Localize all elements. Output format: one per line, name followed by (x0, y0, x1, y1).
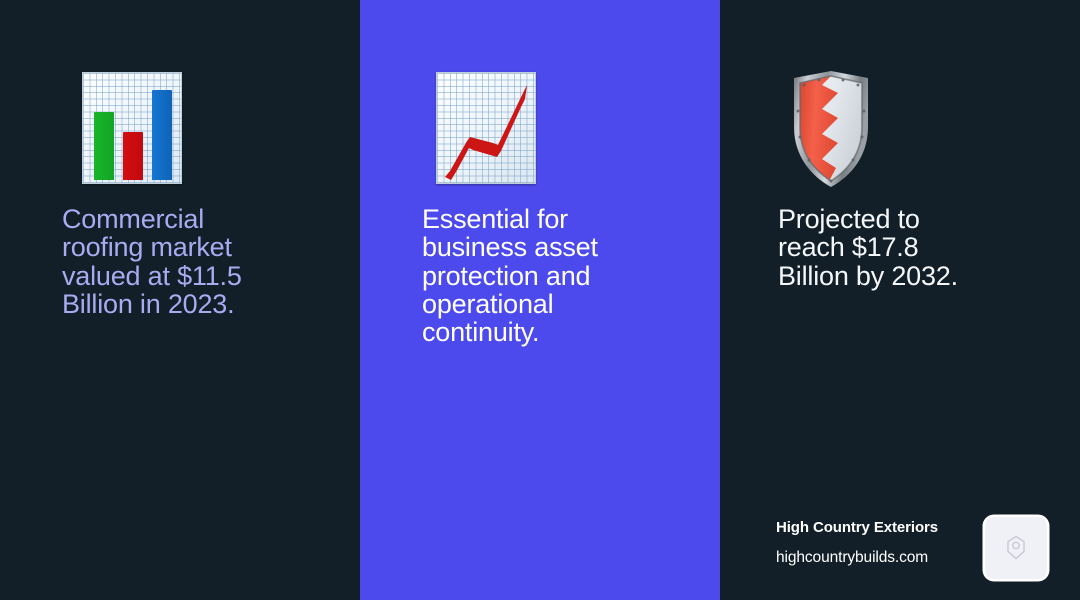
bar-green (94, 112, 114, 180)
panel-projection: Projected to reach $17.8 Billion by 2032… (720, 0, 1080, 600)
panel-content: Essential for business asset protection … (422, 62, 662, 347)
bar-chart-emoji-wrap (62, 62, 164, 177)
logo-watermark-icon (1006, 536, 1026, 560)
chart-increasing-emoji-wrap (422, 62, 524, 177)
bar-chart-icon (82, 72, 182, 184)
panel-market-value: Commercial roofing market valued at $11.… (0, 0, 360, 600)
company-website[interactable]: highcountrybuilds.com (776, 549, 928, 567)
panel-content: Projected to reach $17.8 Billion by 2032… (778, 62, 1018, 290)
chart-increasing-icon (436, 72, 536, 184)
company-name: High Country Exteriors (776, 519, 938, 536)
panel-1-text: Commercial roofing market valued at $11.… (62, 205, 302, 318)
panel-2-text: Essential for business asset protection … (422, 205, 662, 347)
panel-3-text: Projected to reach $17.8 Billion by 2032… (778, 205, 1018, 290)
branding-block: High Country Exteriors highcountrybuilds… (776, 517, 1046, 579)
bar-blue (152, 90, 172, 180)
company-logo-tile (985, 517, 1047, 579)
panel-content: Commercial roofing market valued at $11.… (62, 62, 302, 318)
shield-emoji-wrap (778, 62, 880, 177)
shield-icon (792, 71, 870, 187)
bar-red (123, 132, 143, 180)
infographic-canvas: Commercial roofing market valued at $11.… (0, 0, 1080, 600)
panel-asset-protection: Essential for business asset protection … (360, 0, 720, 600)
